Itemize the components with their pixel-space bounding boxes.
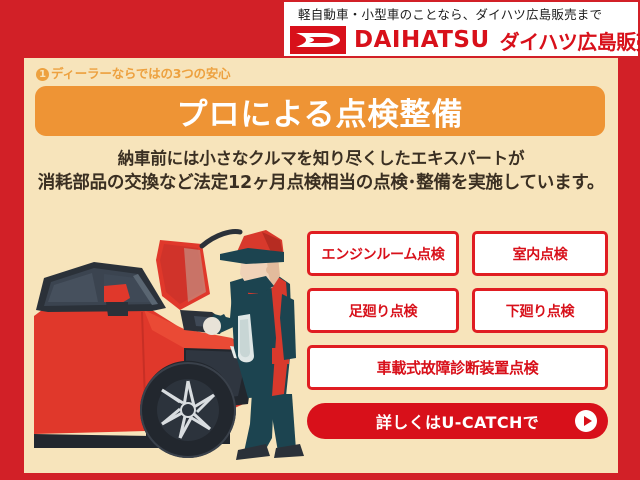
check-item-interior[interactable]: 室内点検 xyxy=(472,231,608,276)
page-title: プロによる点検整備 xyxy=(176,89,463,134)
check-item-label: 車載式故障診断装置点検 xyxy=(377,357,539,378)
lead-line-2: 消耗部品の交換など法定12ヶ月点検相当の点検･整備を実施しています。 xyxy=(24,171,618,196)
lead-line-1: 納車前には小さなクルマを知り尽くしたエキスパートが xyxy=(24,146,618,171)
check-item-obd[interactable]: 車載式故障診断装置点検 xyxy=(307,345,608,390)
check-item-underbody[interactable]: 下廻り点検 xyxy=(472,288,608,333)
section-title-box: プロによる点検整備 xyxy=(35,86,605,136)
check-item-suspension[interactable]: 足廻り点検 xyxy=(307,288,459,333)
brand-wordmark: DAIHATSU xyxy=(354,27,490,53)
section-kicker: 1ディーラーならではの3つの安心 xyxy=(36,63,230,82)
play-circle-icon[interactable] xyxy=(575,410,597,432)
lead-paragraph: 納車前には小さなクルマを知り尽くしたエキスパートが 消耗部品の交換など法定12ヶ… xyxy=(24,146,618,196)
check-item-label: 室内点検 xyxy=(513,244,568,264)
cta-ucatch-button[interactable]: 詳しくはU-CATCHで xyxy=(307,403,608,439)
illustration-mechanic-car xyxy=(34,198,324,473)
header-band: 軽自動車・小型車のことなら、ダイハツ広島販売まで DAIHATSU ダイハツ広島… xyxy=(0,0,640,58)
daihatsu-d-mark-icon xyxy=(290,26,346,54)
kicker-label: ディーラーならではの3つの安心 xyxy=(51,66,230,81)
kicker-number-badge: 1 xyxy=(36,68,49,81)
content-panel: 1ディーラーならではの3つの安心 プロによる点検整備 納車前には小さなクルマを知… xyxy=(24,58,618,473)
brand-logo: DAIHATSU ダイハツ広島販売 xyxy=(290,26,636,54)
cta-label: 詳しくはU-CATCHで xyxy=(376,409,539,433)
poster-root: 軽自動車・小型車のことなら、ダイハツ広島販売まで DAIHATSU ダイハツ広島… xyxy=(0,0,640,480)
check-item-label: 下廻り点検 xyxy=(506,301,575,321)
check-item-label: エンジンルーム点検 xyxy=(322,244,445,264)
header-tagline: 軽自動車・小型車のことなら、ダイハツ広島販売まで xyxy=(298,5,630,25)
brand-japanese-name: ダイハツ広島販売 xyxy=(500,26,640,55)
check-item-engine-room[interactable]: エンジンルーム点検 xyxy=(307,231,459,276)
check-item-label: 足廻り点検 xyxy=(349,301,418,321)
